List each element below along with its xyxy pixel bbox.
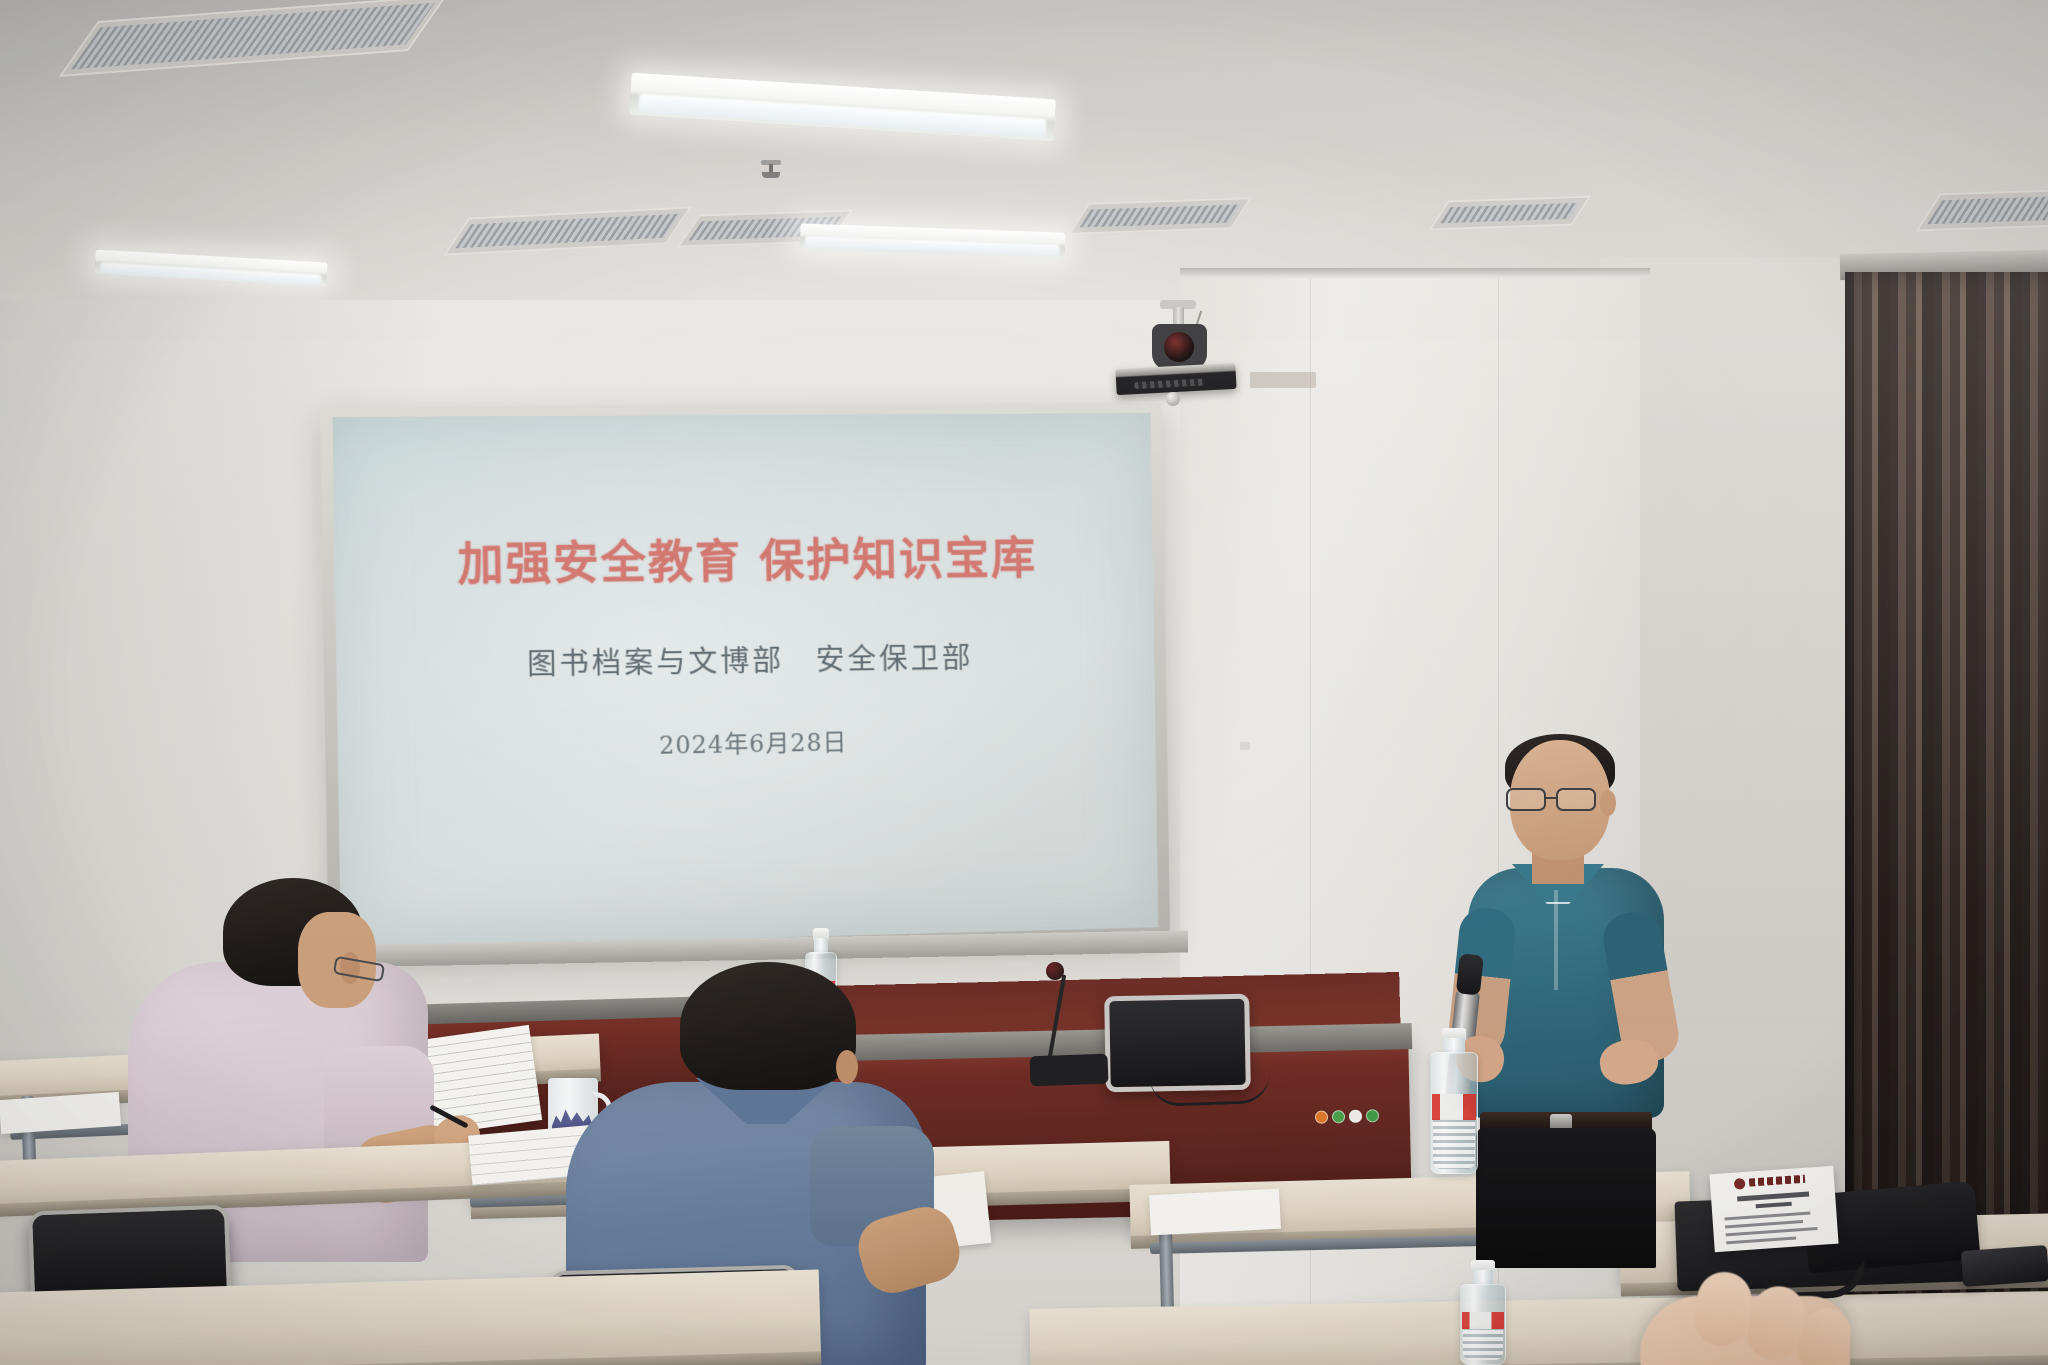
smartphone[interactable]	[1961, 1245, 2048, 1287]
wall-cornice	[1180, 268, 1650, 278]
slide-date: 2024年6月28日	[659, 722, 848, 760]
camera-lens-icon	[1164, 332, 1194, 362]
foreground-hand	[1640, 1268, 1910, 1365]
air-vent-icon	[1068, 197, 1252, 235]
university-logo-icon	[1734, 1178, 1746, 1190]
sticker-dots	[1315, 1109, 1379, 1124]
presentation-slide: 加强安全教育 保护知识宝库 图书档案与文博部 安全保卫部 2024年6月28日	[332, 413, 1158, 949]
water-bottle	[1430, 1052, 1478, 1174]
paper-sheet	[1149, 1189, 1281, 1236]
meeting-room-photo: 加强安全教育 保护知识宝库 图书档案与文博部 安全保卫部 2024年6月28日	[0, 0, 2048, 1365]
fire-sprinkler-icon	[758, 160, 784, 182]
projection-screen-surface: 加强安全教育 保护知识宝库 图书档案与文博部 安全保卫部 2024年6月28日	[332, 413, 1158, 949]
microphone-base	[1030, 1054, 1109, 1087]
handout-paper	[420, 1025, 542, 1135]
air-vent-icon	[1429, 196, 1591, 231]
table-leg	[1159, 1232, 1174, 1310]
presenter	[1450, 740, 1680, 1250]
ptz-camera-icon	[1110, 300, 1240, 425]
slide-subtitle: 图书档案与文博部 安全保卫部	[527, 635, 974, 684]
water-bottle	[1460, 1284, 1506, 1365]
slide-title: 加强安全教育 保护知识宝库	[457, 522, 1037, 593]
eyeglasses-icon	[1506, 788, 1610, 812]
printed-document	[1709, 1166, 1838, 1252]
